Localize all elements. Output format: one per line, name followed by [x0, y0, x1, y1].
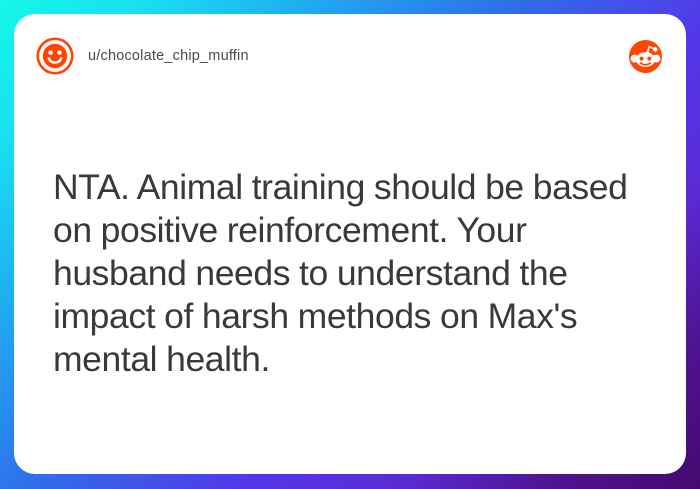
gradient-background: u/chocolate_chip_muffin NTA. Animal trai…: [0, 0, 700, 489]
reddit-post-card: u/chocolate_chip_muffin NTA. Animal trai…: [14, 14, 686, 474]
reddit-snoo-logo-icon[interactable]: [629, 40, 662, 73]
smiley-face-avatar-icon[interactable]: [36, 37, 74, 75]
username-label[interactable]: u/chocolate_chip_muffin: [88, 48, 249, 64]
post-body-text: NTA. Animal training should be based on …: [53, 166, 646, 381]
post-header: u/chocolate_chip_muffin: [14, 14, 686, 98]
post-body: NTA. Animal training should be based on …: [53, 166, 646, 381]
